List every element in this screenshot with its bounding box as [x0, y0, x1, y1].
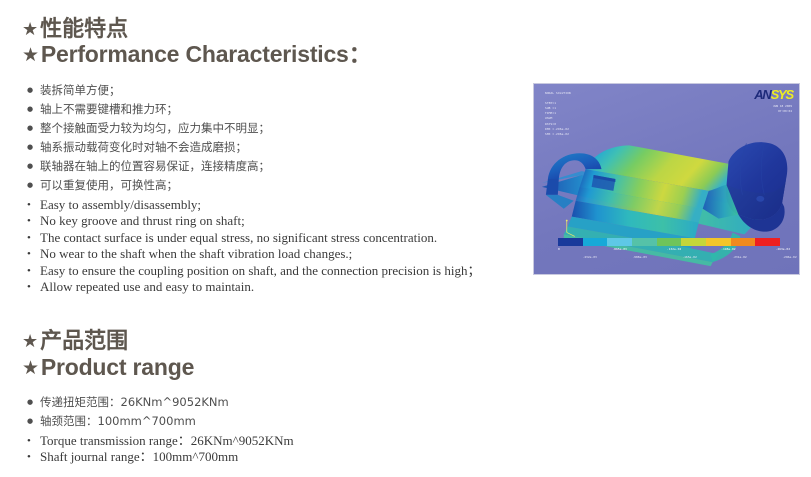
legend-swatch	[607, 238, 632, 246]
legend-tick-label: .865e-03	[612, 247, 626, 251]
list-item: 轴颈范围：100mm^700mm	[27, 412, 229, 431]
performance-bullets-en: Easy to assembly/disassembly; No key gro…	[27, 197, 480, 295]
list-item: Torque transmission range：26KNm^9052KNm	[27, 433, 294, 449]
star-icon: ★	[22, 355, 39, 383]
list-item: No wear to the shaft when the shaft vibr…	[27, 246, 480, 262]
star-icon: ★	[22, 328, 38, 354]
legend-tick-label: .198e-02	[721, 247, 735, 251]
list-item: Easy to assembly/disassembly;	[27, 197, 480, 213]
performance-heading-cn-text: 性能特点	[40, 16, 128, 41]
page-root: ★性能特点 ★Performance Characteristics： 装拆简单…	[0, 0, 811, 477]
legend-tick-label: .296e-02	[782, 255, 796, 259]
list-item: 联轴器在轴上的位置容易保证，连接精度高；	[27, 157, 270, 176]
legend-labels-lower: .432e-03.988e-03.165e-02.231e-02.296e-02	[558, 255, 780, 262]
legend-tick-label: .132e-02	[667, 247, 681, 251]
legend-swatch	[558, 238, 583, 246]
list-item: 轴系振动载荷变化时对轴不会造成磨损；	[27, 138, 270, 157]
product-range-heading-en: ★Product range	[22, 353, 194, 383]
list-item: No key groove and thrust ring on shaft;	[27, 213, 480, 229]
legend-tick-label: .231e-02	[732, 255, 746, 259]
list-item: Allow repeated use and easy to maintain.	[27, 279, 480, 295]
legend-swatch	[755, 238, 780, 246]
list-item: 整个接触面受力较为均匀，应力集中不明显；	[27, 119, 270, 138]
product-range-heading-cn-text: 产品范围	[40, 328, 128, 353]
star-icon: ★	[22, 16, 38, 42]
performance-heading-cn: ★性能特点	[22, 16, 128, 42]
legend-tick-label: .165e-02	[682, 255, 696, 259]
legend-labels-upper: 0.865e-03.132e-02.198e-02.263e-02	[558, 247, 780, 254]
performance-bullets-cn: 装拆简单方便； 轴上不需要键槽和推力环； 整个接触面受力较为均匀，应力集中不明显…	[27, 81, 270, 195]
product-range-heading-cn: ★产品范围	[22, 328, 128, 354]
list-item: The contact surface is under equal stres…	[27, 230, 480, 246]
performance-heading-en-text: Performance Characteristics：	[41, 41, 372, 67]
star-icon: ★	[22, 42, 39, 70]
legend-swatch	[706, 238, 731, 246]
ansys-simulation-figure: NODAL SOLUTION STEP=1 SUB =1 TIME=1 USUM…	[533, 83, 800, 275]
list-item: 可以重复使用，可换性高；	[27, 176, 270, 195]
legend-swatch	[657, 238, 682, 246]
legend-swatch	[681, 238, 706, 246]
list-item: 轴上不需要键槽和推力环；	[27, 100, 270, 119]
product-range-heading-en-text: Product range	[41, 354, 194, 380]
legend-swatch	[731, 238, 756, 246]
legend-tick-label: 0	[558, 247, 560, 251]
legend-tick-label: .432e-03	[582, 255, 596, 259]
legend-swatch	[632, 238, 657, 246]
product-range-bullets-en: Torque transmission range：26KNm^9052KNm …	[27, 433, 294, 466]
legend-color-bar	[558, 238, 780, 246]
figure-color-legend: 0.865e-03.132e-02.198e-02.263e-02 .432e-…	[558, 238, 780, 262]
legend-swatch	[583, 238, 608, 246]
list-item: Easy to ensure the coupling position on …	[27, 263, 480, 279]
product-range-bullets-cn: 传递扭矩范围：26KNm^9052KNm 轴颈范围：100mm^700mm	[27, 393, 229, 431]
list-item: 装拆简单方便；	[27, 81, 270, 100]
list-item: 传递扭矩范围：26KNm^9052KNm	[27, 393, 229, 412]
list-item: Shaft journal range：100mm^700mm	[27, 449, 294, 465]
performance-heading-en: ★Performance Characteristics：	[22, 40, 371, 70]
legend-tick-label: .263e-02	[776, 247, 790, 251]
legend-tick-label: .988e-03	[632, 255, 646, 259]
